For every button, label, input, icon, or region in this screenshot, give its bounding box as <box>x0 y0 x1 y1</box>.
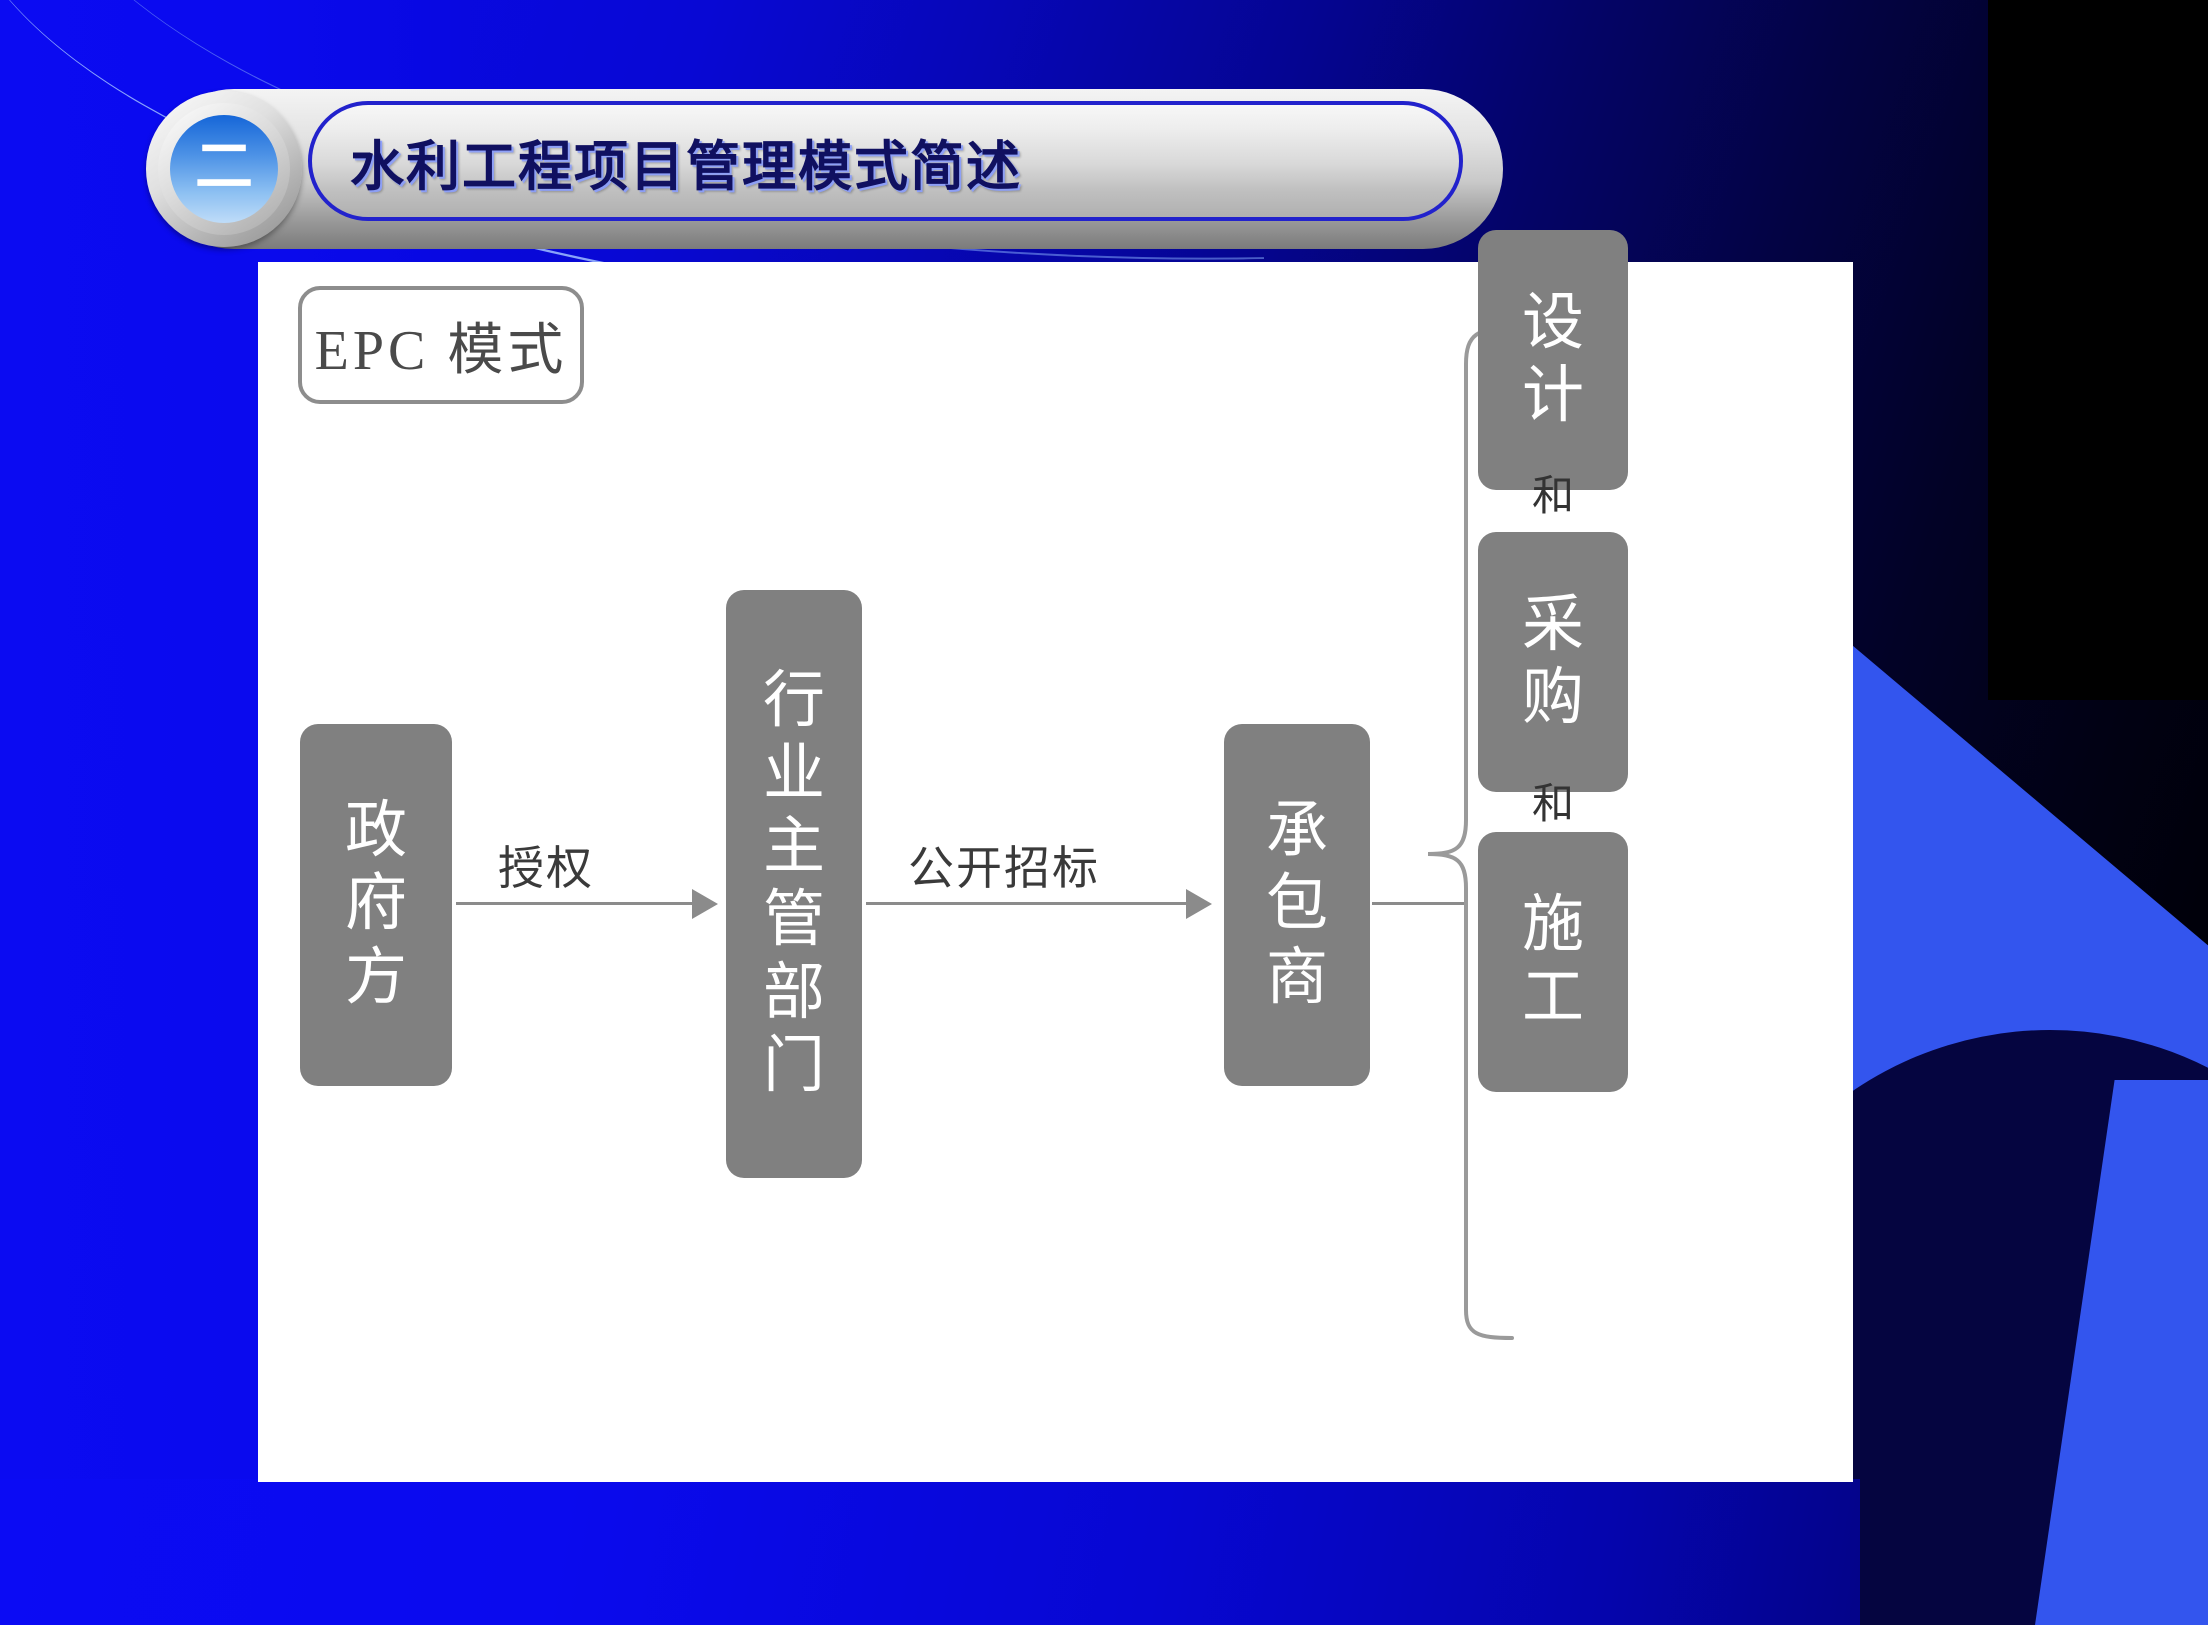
edge-label-authorization: 授权 <box>498 832 594 898</box>
edge-government-to-department-arrowhead <box>692 889 718 919</box>
edge-department-to-contractor-line <box>866 902 1188 905</box>
node-government: 政 府 方 <box>300 724 452 1086</box>
background-bottom-band <box>0 1479 1860 1625</box>
node-department-char-4: 部 <box>763 957 825 1030</box>
node-procurement: 采 购 <box>1478 532 1628 792</box>
node-department-char-2: 主 <box>763 811 825 884</box>
section-number-badge: 二 <box>146 91 302 247</box>
node-department-char-0: 行 <box>763 665 825 738</box>
node-government-char-2: 方 <box>345 942 407 1015</box>
edge-department-to-contractor-arrowhead <box>1186 889 1212 919</box>
badge-number-label: 二 <box>170 115 278 223</box>
epc-mode-label: EPC 模式 <box>298 286 584 404</box>
page-title: 水利工程项目管理模式简述 <box>350 122 1022 201</box>
node-design-char-1: 计 <box>1522 360 1584 433</box>
conjunction-label-1: 和 <box>1508 462 1598 523</box>
badge-ring: 二 <box>158 103 290 235</box>
node-department-char-5: 门 <box>763 1030 825 1103</box>
node-department-char-3: 管 <box>763 884 825 957</box>
node-design-char-0: 设 <box>1522 287 1584 360</box>
node-department: 行 业 主 管 部 门 <box>726 590 862 1178</box>
node-construction-char-0: 施 <box>1522 889 1584 962</box>
title-bar-pill: 水利工程项目管理模式简述 <box>308 101 1463 221</box>
conjunction-label-2: 和 <box>1508 770 1598 831</box>
node-government-char-0: 政 <box>345 795 407 868</box>
node-construction: 施 工 <box>1478 832 1628 1092</box>
node-design: 设 计 <box>1478 230 1628 490</box>
node-construction-char-1: 工 <box>1522 962 1584 1035</box>
node-contractor-char-2: 商 <box>1266 942 1328 1015</box>
node-government-char-1: 府 <box>345 868 407 941</box>
node-department-char-1: 业 <box>763 738 825 811</box>
edge-label-public-bidding: 公开招标 <box>908 832 1100 898</box>
node-contractor: 承 包 商 <box>1224 724 1370 1086</box>
slide-canvas: 水利工程项目管理模式简述 二 EPC 模式 政 府 方 授权 行 业 主 管 部… <box>0 0 2208 1625</box>
node-procurement-char-0: 采 <box>1522 589 1584 662</box>
node-contractor-char-0: 承 <box>1266 795 1328 868</box>
content-panel: EPC 模式 政 府 方 授权 行 业 主 管 部 门 公开招标 承 包 商 <box>258 262 1853 1482</box>
node-procurement-char-1: 购 <box>1522 662 1584 735</box>
node-contractor-char-1: 包 <box>1266 868 1328 941</box>
edge-government-to-department-line <box>456 902 694 905</box>
background-right-black <box>1988 0 2208 700</box>
slide-title-bar: 水利工程项目管理模式简述 二 <box>128 79 1503 254</box>
